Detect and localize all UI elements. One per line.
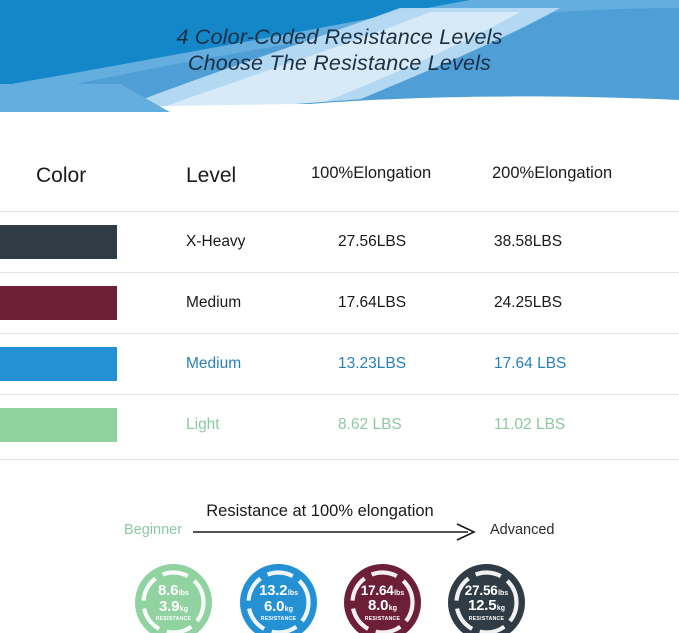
resistance-badge: 13.2 lbs 6.0 kg RESISTANCE xyxy=(240,564,317,633)
cell-elongation-200: 24.25LBS xyxy=(494,294,562,312)
beginner-label: Beginner xyxy=(124,522,182,538)
badge-values: 27.56 lbs 12.5 kg RESISTANCE xyxy=(448,564,525,633)
resistance-badges: 8.6 lbs 3.9 kg RESISTANCE 13. xyxy=(0,564,679,633)
badge-values: 13.2 lbs 6.0 kg RESISTANCE xyxy=(240,564,317,633)
cell-elongation-100: 8.62 LBS xyxy=(338,416,402,434)
cell-elongation-200: 38.58LBS xyxy=(494,233,562,251)
badge-lbs-unit: lbs xyxy=(288,590,298,597)
table-row: Medium 17.64LBS 24.25LBS xyxy=(0,273,679,334)
banner-background-shapes xyxy=(0,0,679,112)
resistance-badge: 17.64 lbs 8.0 kg RESISTANCE xyxy=(344,564,421,633)
resistance-levels-infographic: 4 Color-Coded Resistance Levels Choose T… xyxy=(0,0,679,633)
badge-caption: RESISTANCE xyxy=(365,616,401,622)
badge-kg-unit: kg xyxy=(180,606,188,613)
badge-lbs-unit: lbs xyxy=(179,590,189,597)
badge-lbs: 13.2 lbs xyxy=(259,583,298,598)
badge-lbs-value: 27.56 xyxy=(465,584,498,598)
color-swatch xyxy=(0,225,117,259)
badge-lbs-unit: lbs xyxy=(498,590,508,597)
cell-level: Medium xyxy=(186,355,241,373)
table-row: Medium 13.23LBS 17.64 LBS xyxy=(0,334,679,395)
badge-lbs: 17.64 lbs xyxy=(361,584,404,598)
badge-kg: 6.0 kg xyxy=(264,599,293,614)
badge-caption: RESISTANCE xyxy=(469,616,505,622)
column-header-level: Level xyxy=(186,164,236,188)
cell-level: X-Heavy xyxy=(186,233,245,251)
column-header-elongation-100: 100%Elongation xyxy=(311,164,431,183)
badge-lbs: 8.6 lbs xyxy=(158,583,189,598)
badge-caption: RESISTANCE xyxy=(261,616,297,622)
table-header-row: Color Level 100%Elongation 200%Elongatio… xyxy=(0,112,679,212)
color-swatch xyxy=(0,408,117,442)
badge-lbs-value: 13.2 xyxy=(259,583,287,598)
badge-kg: 3.9 kg xyxy=(159,599,188,614)
resistance-table: Color Level 100%Elongation 200%Elongatio… xyxy=(0,112,679,212)
badge-kg-unit: kg xyxy=(285,606,293,613)
cell-level: Light xyxy=(186,416,220,434)
badge-kg-unit: kg xyxy=(497,605,505,612)
badge-lbs: 27.56 lbs xyxy=(465,584,508,598)
arrow-right-icon xyxy=(193,522,483,542)
column-header-color: Color xyxy=(36,164,86,188)
badge-values: 17.64 lbs 8.0 kg RESISTANCE xyxy=(344,564,421,633)
column-header-elongation-200: 200%Elongation xyxy=(492,164,612,183)
cell-elongation-100: 13.23LBS xyxy=(338,355,406,373)
badge-lbs-value: 8.6 xyxy=(158,583,178,598)
badge-lbs-value: 17.64 xyxy=(361,584,394,598)
color-swatch xyxy=(0,286,117,320)
badge-kg: 8.0 kg xyxy=(368,598,397,613)
resistance-axis-label: Resistance at 100% elongation xyxy=(0,502,640,521)
badge-kg-value: 3.9 xyxy=(159,599,179,614)
cell-elongation-200: 17.64 LBS xyxy=(494,355,566,373)
cell-elongation-100: 17.64LBS xyxy=(338,294,406,312)
badge-caption: RESISTANCE xyxy=(156,616,192,622)
table-row: Light 8.62 LBS 11.02 LBS xyxy=(0,395,679,456)
color-swatch xyxy=(0,347,117,381)
badge-kg-value: 8.0 xyxy=(368,598,388,613)
cell-level: Medium xyxy=(186,294,241,312)
resistance-badge: 8.6 lbs 3.9 kg RESISTANCE xyxy=(135,564,212,633)
cell-elongation-100: 27.56LBS xyxy=(338,233,406,251)
badge-lbs-unit: lbs xyxy=(394,590,404,597)
cell-elongation-200: 11.02 LBS xyxy=(494,416,565,434)
badge-kg-value: 12.5 xyxy=(468,598,496,613)
progression-section: Resistance at 100% elongation Beginner A… xyxy=(0,460,679,633)
header-banner: 4 Color-Coded Resistance Levels Choose T… xyxy=(0,0,679,112)
badge-kg: 12.5 kg xyxy=(468,598,505,613)
table-row: X-Heavy 27.56LBS 38.58LBS xyxy=(0,212,679,273)
badge-kg-unit: kg xyxy=(389,605,397,612)
resistance-badge: 27.56 lbs 12.5 kg RESISTANCE xyxy=(448,564,525,633)
badge-values: 8.6 lbs 3.9 kg RESISTANCE xyxy=(135,564,212,633)
advanced-label: Advanced xyxy=(490,522,555,538)
badge-kg-value: 6.0 xyxy=(264,599,284,614)
